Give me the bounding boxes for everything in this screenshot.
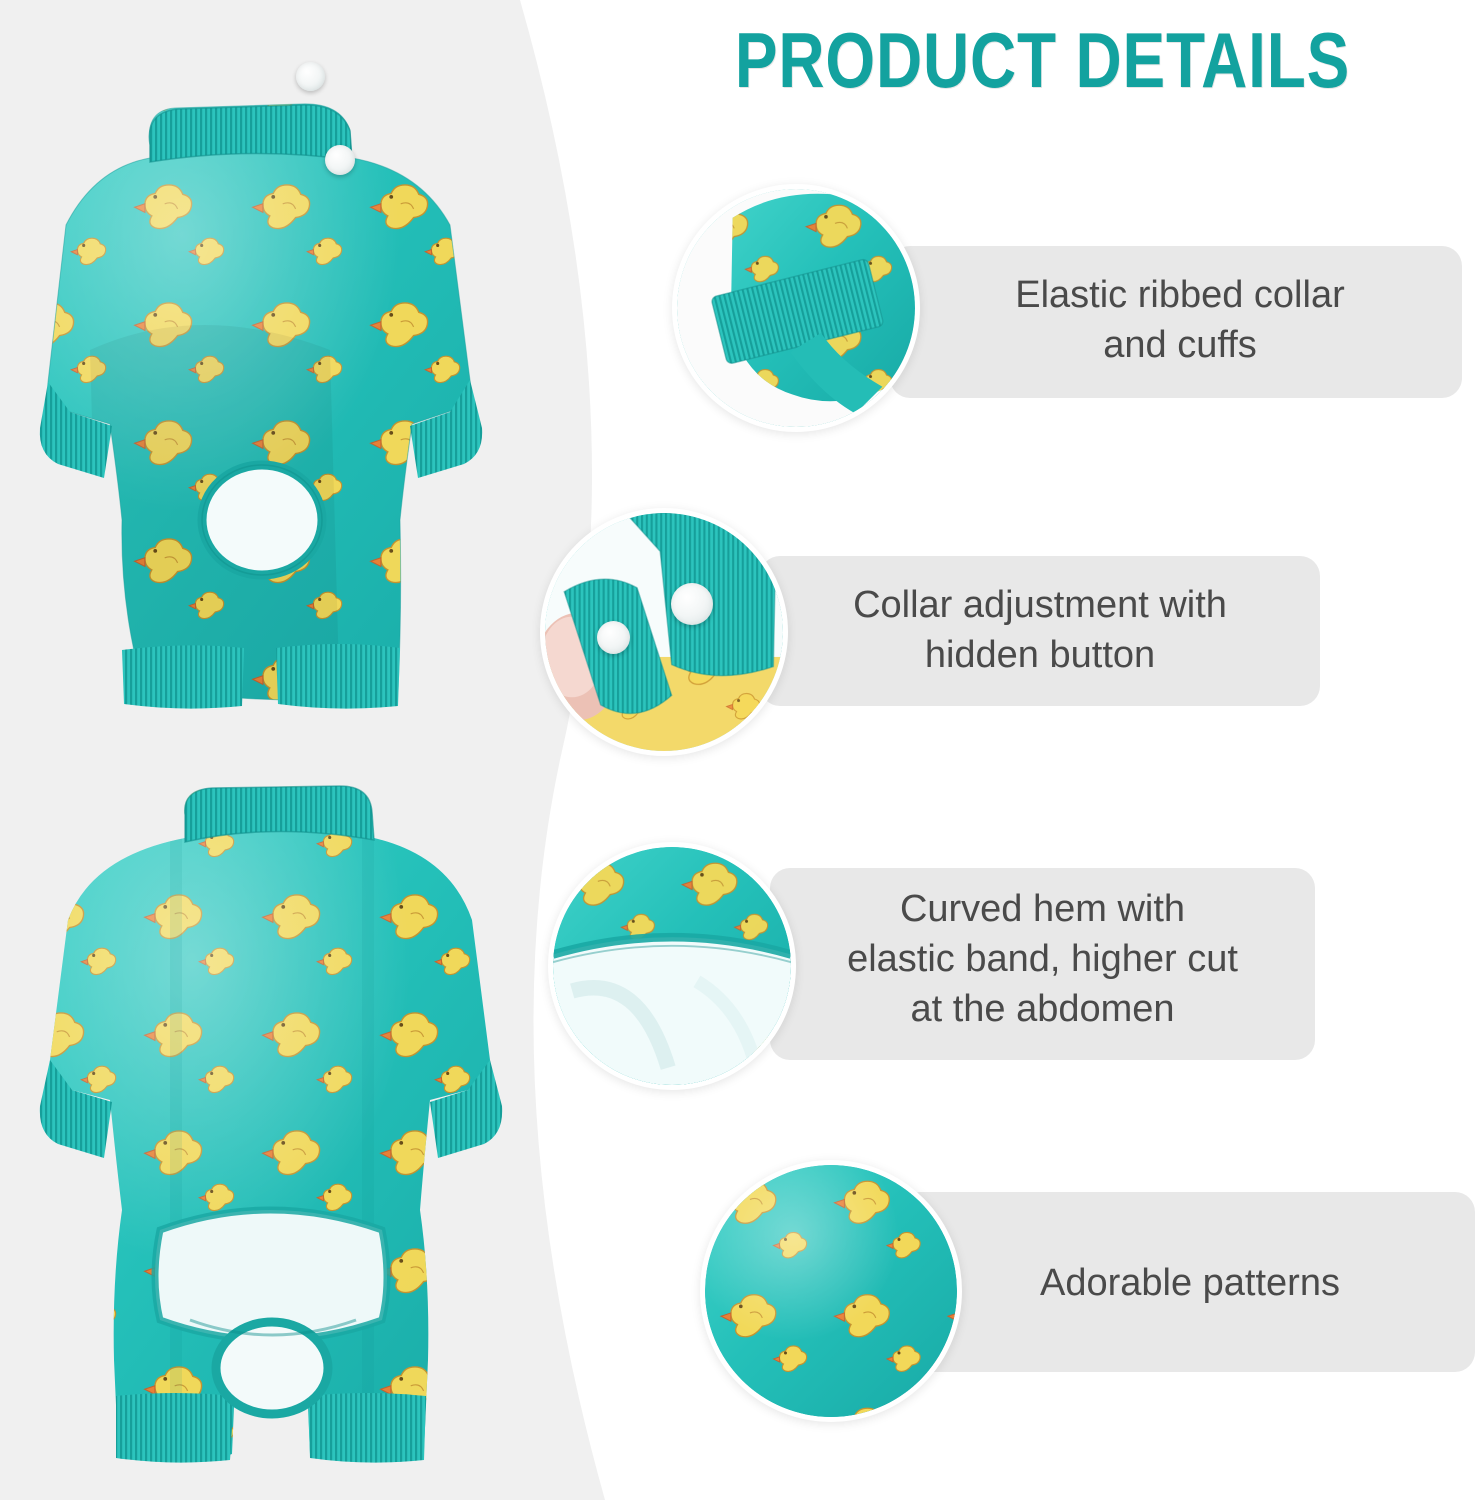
detail-label-line: Adorable patterns <box>940 1258 1440 1308</box>
duck-pattern-closeup <box>700 1160 962 1422</box>
detail-label-patterns: Adorable patterns <box>940 1258 1440 1308</box>
detail-row-patterns: Adorable patterns <box>0 0 1475 1500</box>
product-details-page: PRODUCT DETAILS Elastic ribbed collar an… <box>0 0 1475 1500</box>
